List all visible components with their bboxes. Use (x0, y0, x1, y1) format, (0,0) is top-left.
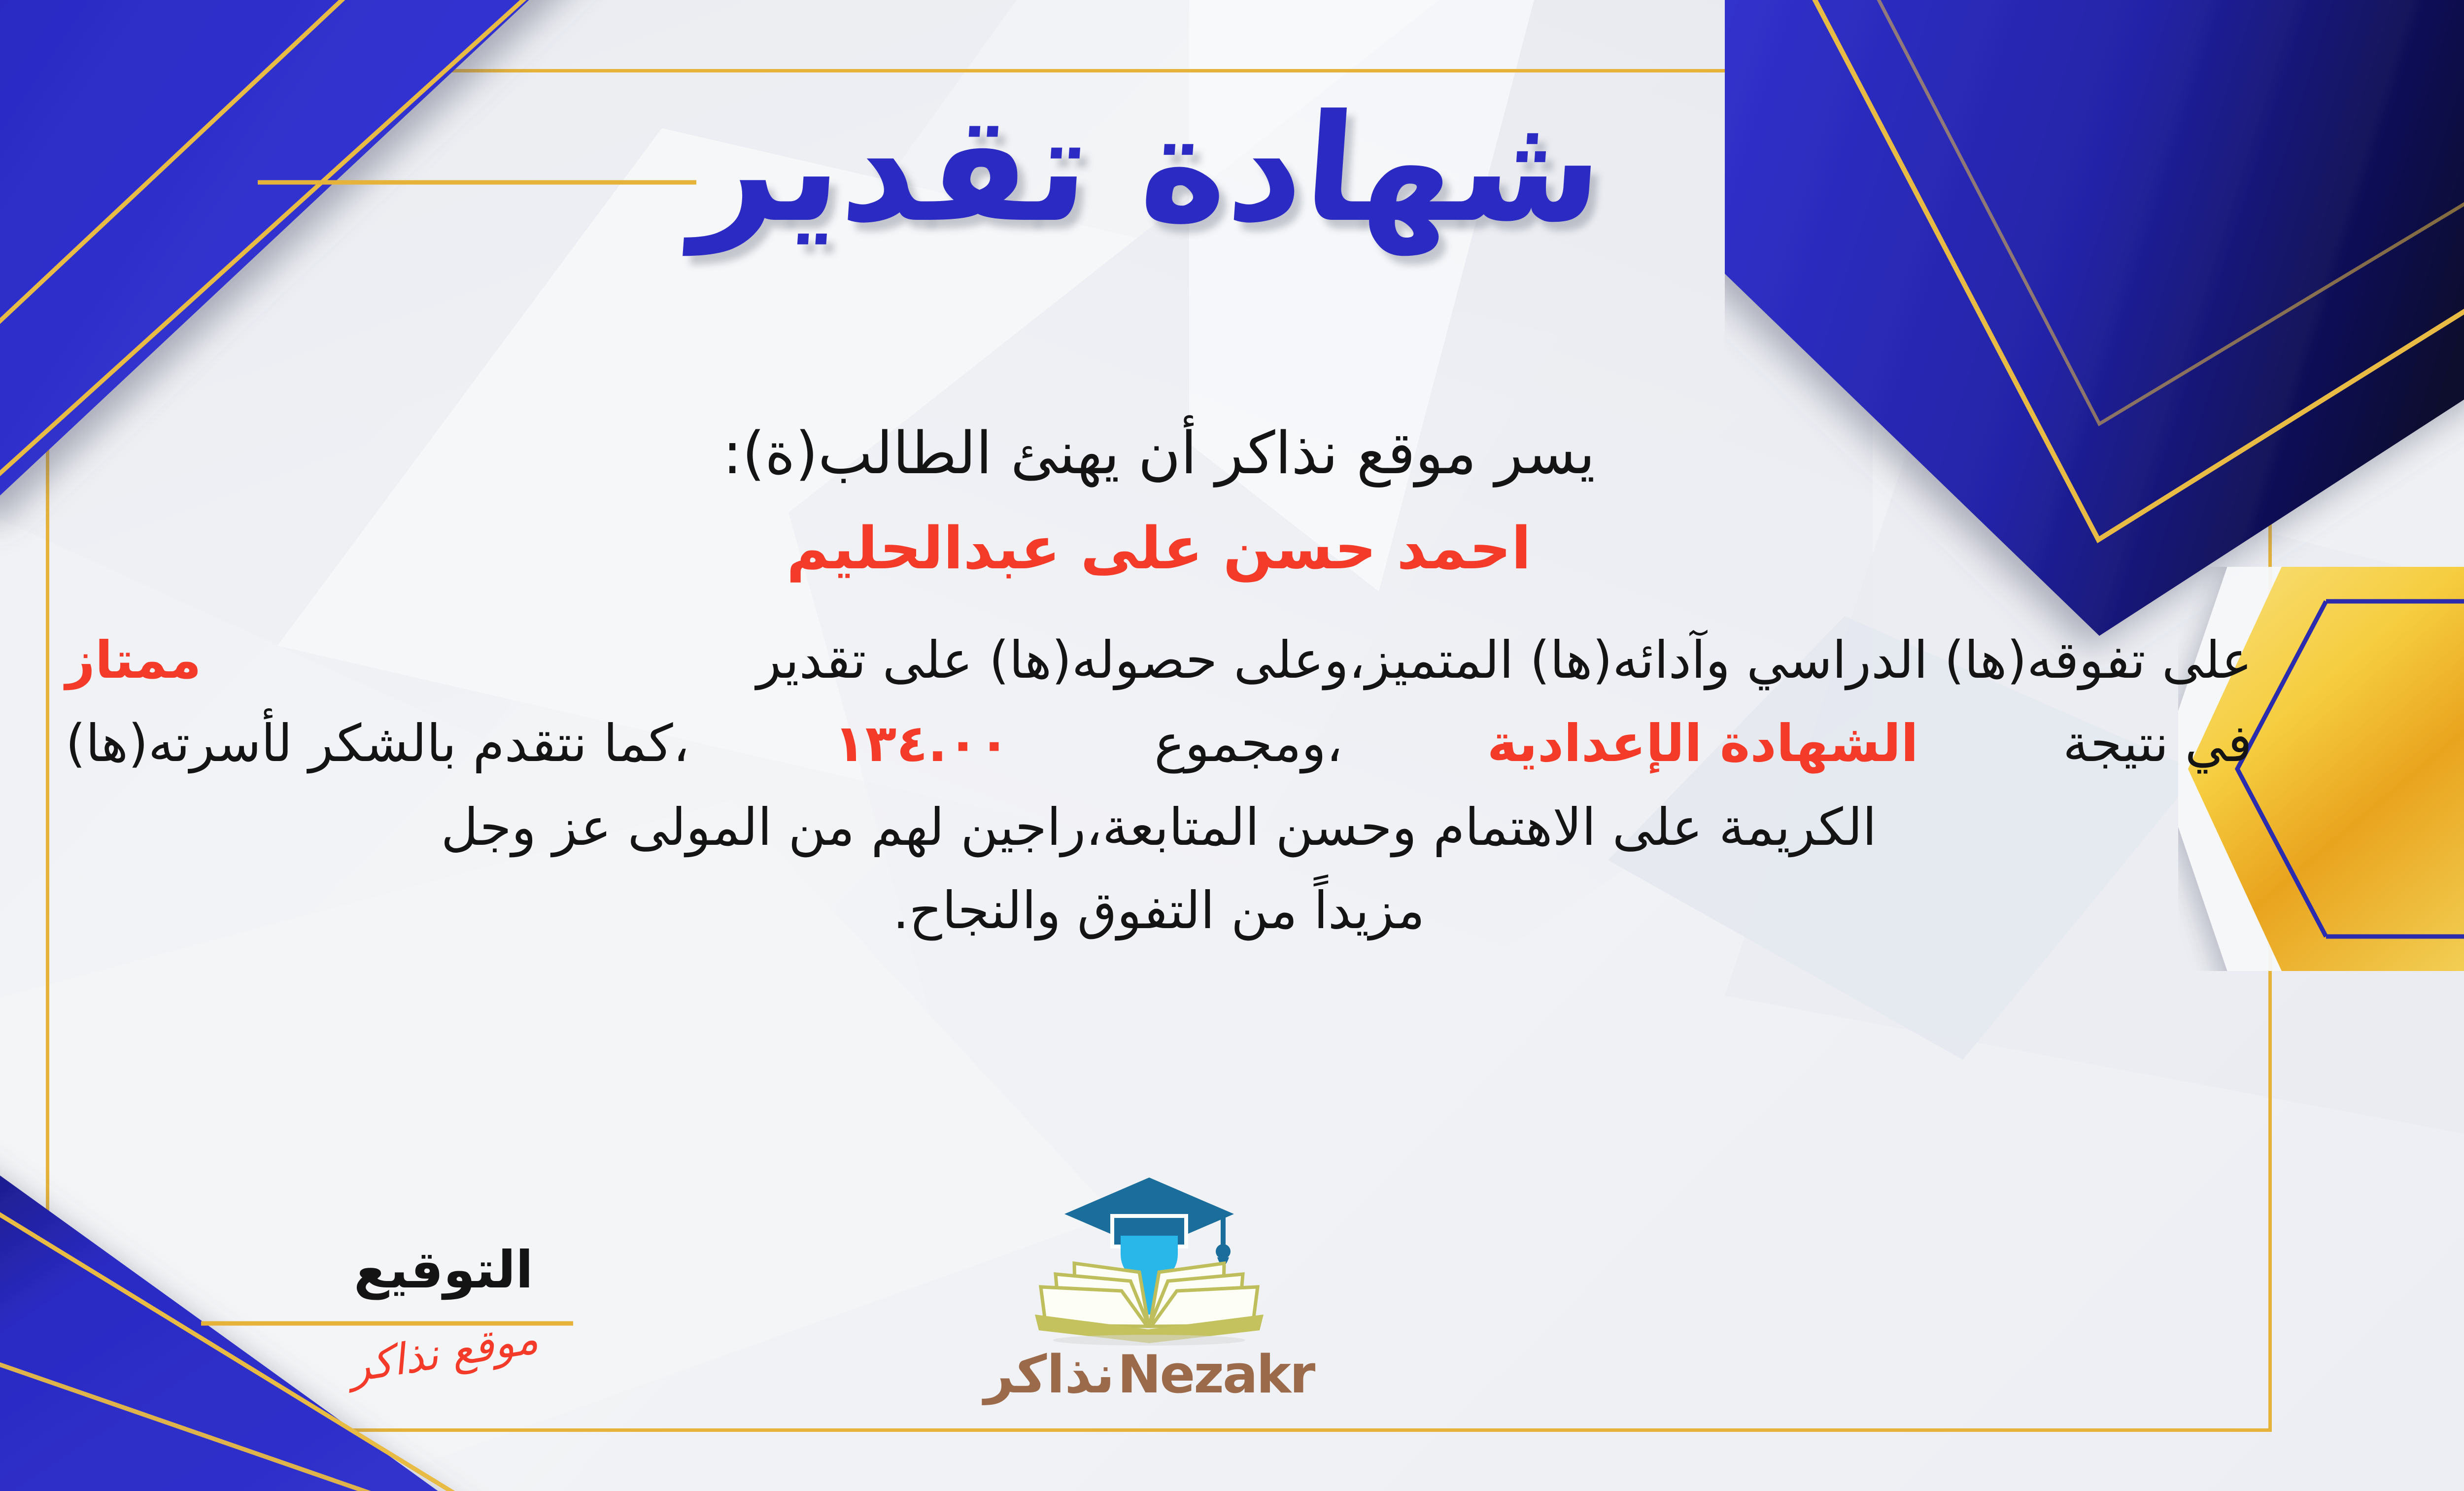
exam-name: الشهادة الإعدادية (1487, 702, 1918, 786)
student-name: احمد حسن على عبدالحليم (66, 509, 2252, 588)
grade-value: ممتاز (66, 619, 202, 702)
signature-block: التوقيع موقع نذاكر (291, 1240, 596, 1378)
congratulation-intro-line: يسر موقع نذاكر أن يهنئ الطالب(ة): (66, 414, 2252, 492)
site-logo-block: Nezakrنذاكر (927, 1167, 1371, 1405)
paragraph-line-1: على تفوقه(ها) الدراسي وآدائه(ها) المتميز… (66, 619, 2252, 702)
certificate-body: يسر موقع نذاكر أن يهنئ الطالب(ة): احمد ح… (66, 414, 2252, 953)
paragraph-line-2-mid: ،ومجموع (1154, 702, 1343, 786)
paragraph-line-2-tail: ،كما نتقدم بالشكر لأسرته(ها) (66, 702, 689, 786)
paragraph-line-4: مزيداً من التفوق والنجاح. (66, 869, 2252, 953)
logo-name-latin: Nezakr (1118, 1344, 1314, 1405)
achievement-paragraph: على تفوقه(ها) الدراسي وآدائه(ها) المتميز… (66, 619, 2252, 953)
certificate-canvas: شهادة تقدير يسر موقع نذاكر أن يهنئ الطال… (0, 0, 2464, 1491)
logo-wordmark: Nezakrنذاكر (927, 1344, 1371, 1405)
logo-name-arabic: نذاكر (984, 1344, 1115, 1405)
paragraph-line-3: الكريمة على الاهتمام وحسن المتابعة،راجين… (66, 786, 2252, 869)
signature-label: التوقيع (291, 1240, 596, 1300)
paragraph-line-2: في نتيجة الشهادة الإعدادية ،ومجموع ١٣٤.٠… (66, 702, 2252, 786)
paragraph-line-1-text: على تفوقه(ها) الدراسي وآدائه(ها) المتميز… (756, 619, 2252, 702)
total-score: ١٣٤.٠٠ (834, 702, 1010, 786)
certificate-title-block: شهادة تقدير (0, 84, 2464, 254)
certificate-title: شهادة تقدير (689, 84, 1608, 254)
paragraph-line-2-lead: في نتيجة (2063, 702, 2252, 786)
